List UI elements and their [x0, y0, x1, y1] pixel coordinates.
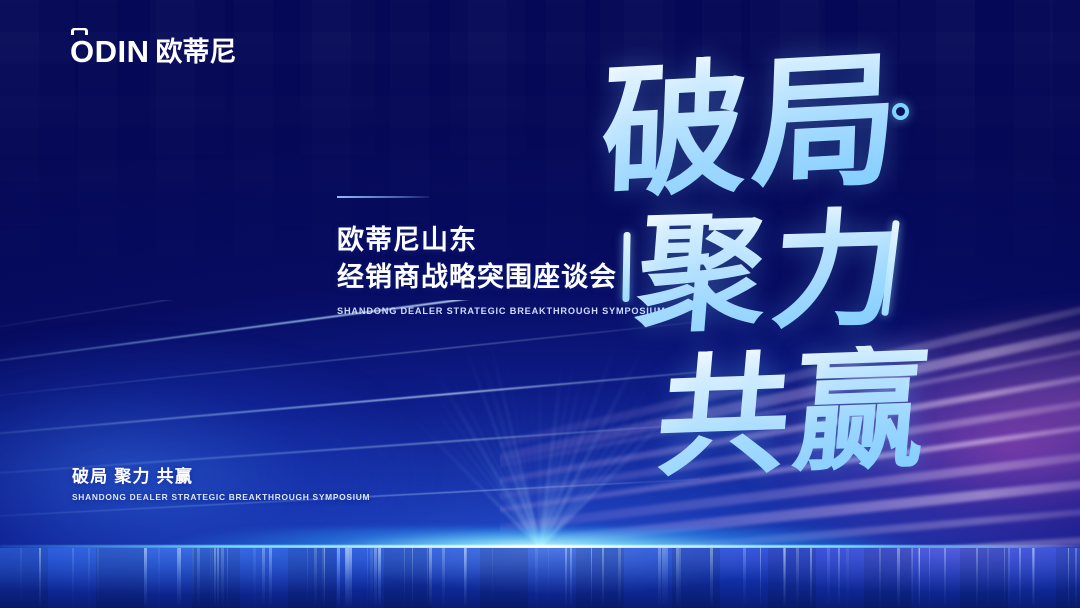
footer-slogan-english: SHANDONG DEALER STRATEGIC BREAKTHROUGH S…: [72, 492, 370, 502]
banner-poster: ODIN 欧蒂尼 欧蒂尼山东 经销商战略突围座谈会 SHANDONG DEALE…: [0, 0, 1080, 608]
footer-slogan-block: 破局 聚力 共赢 SHANDONG DEALER STRATEGIC BREAK…: [72, 468, 370, 502]
divider-rule: [337, 196, 429, 198]
footer-slogan-chinese: 破局 聚力 共赢: [72, 468, 370, 485]
hero-line-1: 破局: [599, 46, 905, 208]
hero-line-3: 共赢: [652, 343, 937, 484]
circumflex-accent-icon: [71, 28, 88, 35]
logo-latin-wordmark: ODIN: [70, 36, 150, 67]
logo-chinese-wordmark: 欧蒂尼: [156, 39, 237, 67]
circle-accent-icon: [892, 103, 909, 120]
logo-latin-text: DIN: [95, 34, 150, 69]
hero-calligraphy: 破局 聚力 共赢: [580, 48, 1050, 478]
floor-block-pattern: [0, 548, 1080, 608]
stage-floor: [0, 548, 1080, 608]
brand-logo: ODIN 欧蒂尼: [70, 36, 237, 67]
hero-line-2: 聚力: [633, 205, 912, 340]
logo-latin-lead-letter: O: [70, 34, 95, 69]
accent-bar-left-icon: [622, 232, 630, 302]
